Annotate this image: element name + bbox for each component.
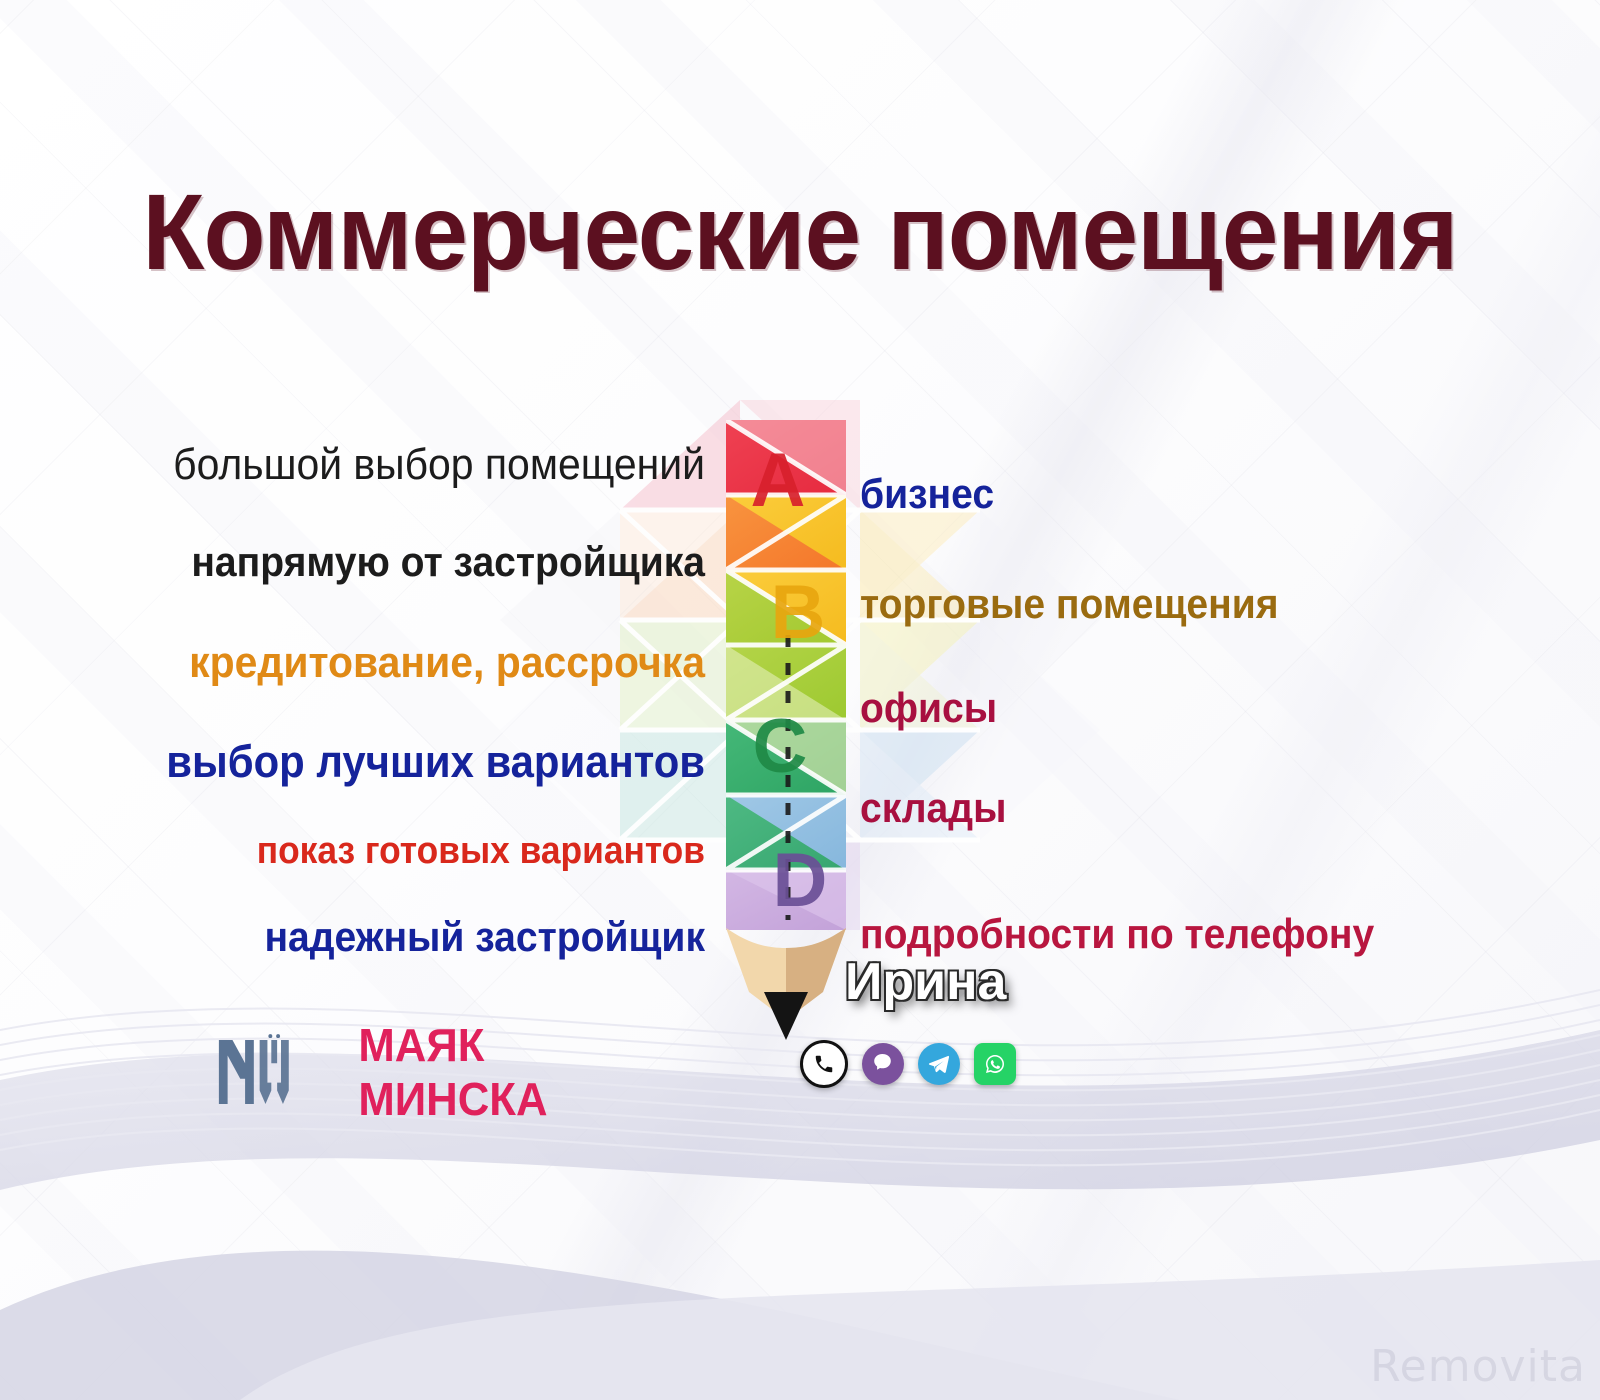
category-item-4: склады (860, 784, 1437, 832)
svg-text:C: C (753, 704, 808, 789)
poster-canvas: Removita Коммерческие помещения (0, 0, 1600, 1400)
watermark: Removita (1370, 1341, 1586, 1392)
features-left-column: большой выбор помещений напрямую от заст… (120, 440, 705, 961)
feature-item-left-5: показ готовых вариантов (161, 830, 705, 873)
telegram-icon[interactable] (918, 1043, 960, 1085)
feature-item-left-3: кредитование, рассрочка (161, 638, 705, 688)
brand-row: МАЯК МИНСКА (215, 1032, 685, 1112)
page-title: Коммерческие помещения (48, 178, 1552, 286)
mw-monogram-icon (215, 1033, 298, 1111)
feature-item-left-1: большой выбор помещений (161, 440, 705, 490)
agent-name: Ирина (845, 952, 1006, 1012)
social-icons-row (800, 1040, 1016, 1088)
pencil-body: A B C D (726, 420, 846, 1040)
phone-icon[interactable] (800, 1040, 848, 1088)
whatsapp-icon[interactable] (974, 1043, 1016, 1085)
category-item-2: торговые помещения (860, 580, 1437, 628)
feature-item-left-2: напрямую от застройщика (161, 538, 705, 586)
feature-item-left-6: надежный застройщик (161, 913, 705, 961)
viber-icon[interactable] (862, 1043, 904, 1085)
categories-right-column: бизнес торговые помещения офисы склады п… (860, 470, 1480, 958)
brand-name: МАЯК МИНСКА (359, 1018, 677, 1126)
svg-text:A: A (751, 438, 806, 523)
category-item-1: бизнес (860, 470, 1437, 518)
category-item-3: офисы (860, 684, 1437, 732)
svg-text:B: B (771, 570, 826, 655)
category-item-5: подробности по телефону (860, 910, 1437, 958)
feature-item-left-4: выбор лучших вариантов (161, 736, 705, 788)
svg-text:D: D (773, 838, 828, 923)
